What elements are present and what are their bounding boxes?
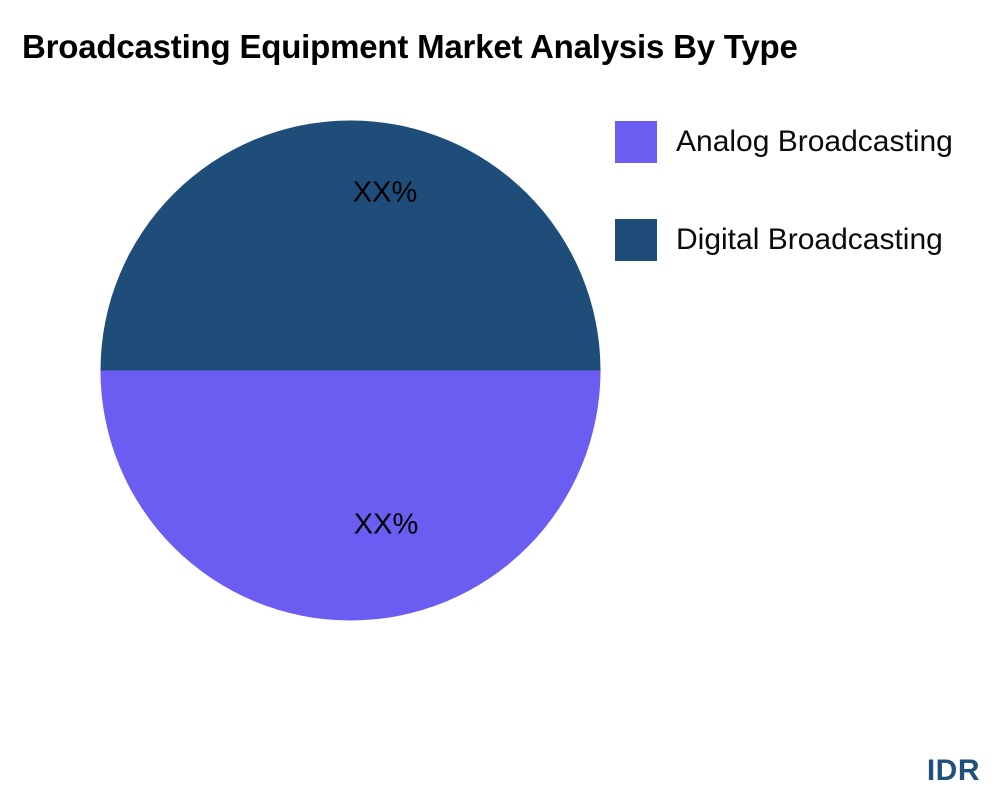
page-title: Broadcasting Equipment Market Analysis B… [22, 25, 1000, 69]
pie-chart: XX% XX% [100, 120, 601, 621]
watermark-logo: IDR [927, 754, 980, 788]
legend-label-digital: Digital Broadcasting [676, 219, 943, 261]
legend-color-swatch-analog [615, 121, 657, 163]
legend: Analog Broadcasting Digital Broadcasting [615, 121, 1000, 317]
legend-item-analog-broadcasting[interactable]: Analog Broadcasting [615, 121, 1000, 163]
pie-slice-digital-broadcasting[interactable] [101, 121, 601, 371]
pie-chart-svg [100, 120, 601, 621]
legend-item-digital-broadcasting[interactable]: Digital Broadcasting [615, 219, 1000, 261]
pie-slice-analog-broadcasting[interactable] [101, 371, 601, 621]
legend-label-analog: Analog Broadcasting [676, 121, 953, 163]
chart-canvas: Broadcasting Equipment Market Analysis B… [0, 0, 1000, 800]
legend-color-swatch-digital [615, 219, 657, 261]
